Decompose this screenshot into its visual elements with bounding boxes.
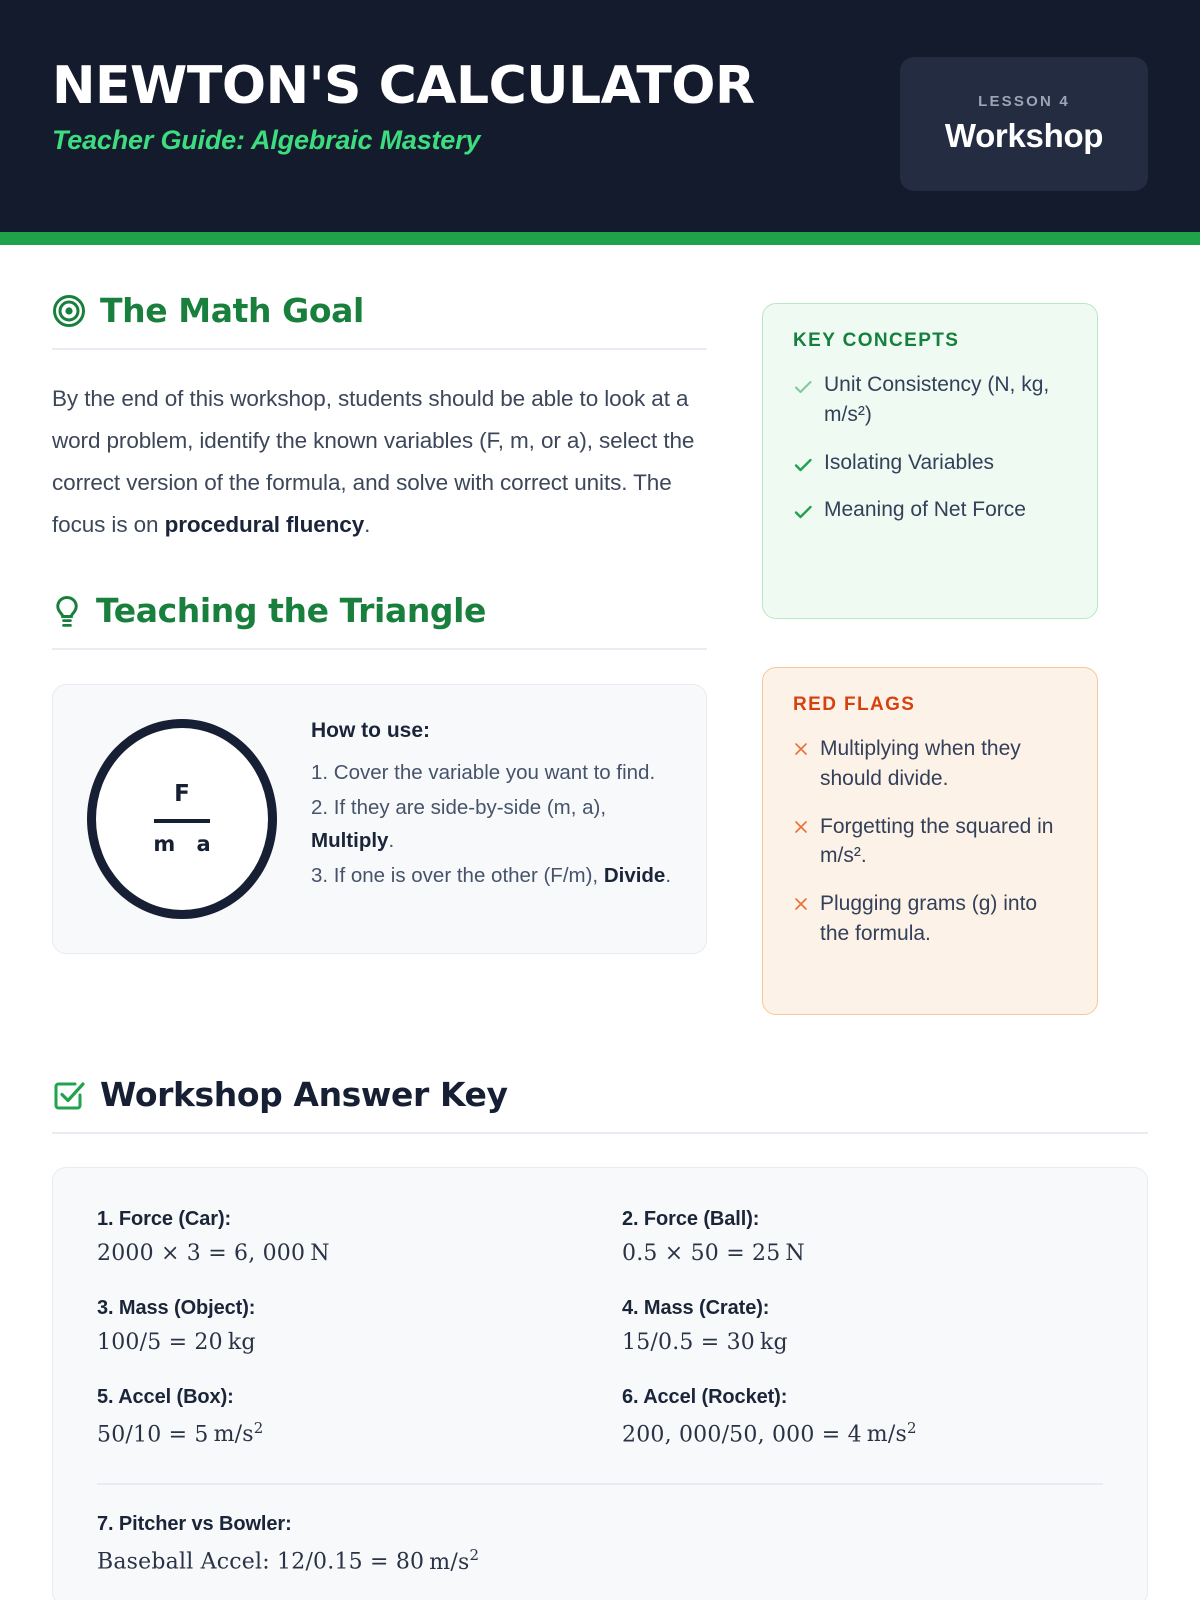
answer-expression: 0.5 × 50 = 25 [622, 1241, 780, 1266]
answer-unit: N [780, 1241, 804, 1266]
key-concept-label: Unit Consistency (N, kg, m/s²) [824, 370, 1071, 430]
math-goal-title: The Math Goal [100, 291, 364, 330]
answer-unit: N [305, 1241, 329, 1266]
answer-item: 1. Force (Car): 2000 × 3 = 6, 000N [97, 1208, 578, 1266]
teaching-triangle-title: Teaching the Triangle [96, 591, 486, 630]
answer-item: 4. Mass (Crate): 15/0.5 = 30kg [622, 1297, 1103, 1355]
main-content: The Math Goal By the end of this worksho… [0, 245, 1200, 1015]
answer-label: 3. Mass (Object): [97, 1297, 578, 1320]
key-concepts-list: Unit Consistency (N, kg, m/s²) Isolating… [793, 370, 1071, 525]
answer-unit: m/s [209, 1422, 254, 1447]
answer-exponent: 2 [254, 1419, 264, 1437]
answer-expression: 15/0.5 = 30 [622, 1330, 755, 1355]
red-flag-label: Multiplying when they should divide. [820, 734, 1071, 794]
list-item: Multiplying when they should divide. [793, 734, 1071, 794]
answer-label: 7. Pitcher vs Bowler: [97, 1513, 1103, 1536]
key-concepts-card: KEY CONCEPTS Unit Consistency (N, kg, m/… [762, 303, 1098, 619]
cross-icon [793, 812, 809, 835]
section-divider [52, 348, 707, 350]
lesson-type-label: Workshop [945, 117, 1103, 155]
answer-equation: 15/0.5 = 30kg [622, 1330, 1103, 1355]
goal-text-emphasis: procedural fluency [165, 512, 365, 537]
red-flags-card: RED FLAGS Multiplying when they should d… [762, 667, 1098, 1015]
answer-equation: 0.5 × 50 = 25N [622, 1241, 1103, 1266]
answer-expression: 200, 000/50, 000 = 4 [622, 1422, 862, 1447]
key-concept-label: Meaning of Net Force [824, 495, 1071, 525]
answer-label: 6. Accel (Rocket): [622, 1386, 1103, 1409]
howto-title: How to use: [311, 719, 676, 743]
math-goal-section: The Math Goal By the end of this worksho… [52, 291, 707, 545]
target-icon [52, 294, 86, 328]
lightbulb-icon [52, 594, 82, 628]
list-item: Forgetting the squared in m/s². [793, 812, 1071, 872]
answer-card-divider [97, 1483, 1103, 1485]
answer-expression: 100/5 = 20 [97, 1330, 223, 1355]
fraction-bar [154, 819, 210, 823]
answer-equation: 50/10 = 5m/s2 [97, 1419, 578, 1447]
answer-unit: m/s [862, 1422, 907, 1447]
list-item: Plugging grams (g) into the formula. [793, 889, 1071, 949]
howto-step-1-text: 1. Cover the variable you want to find. [311, 761, 655, 784]
howto-step-3-bold: Divide [604, 864, 666, 887]
answer-exponent: 2 [469, 1546, 479, 1564]
red-flags-title: RED FLAGS [793, 694, 1071, 716]
answer-label: 4. Mass (Crate): [622, 1297, 1103, 1320]
check-icon [793, 448, 813, 475]
answer-unit: kg [755, 1330, 788, 1355]
answer-item: 6. Accel (Rocket): 200, 000/50, 000 = 4m… [622, 1386, 1103, 1447]
teaching-triangle-section: Teaching the Triangle F m a How to use: … [52, 591, 707, 954]
answer-key-section: Workshop Answer Key 1. Force (Car): 2000… [0, 1015, 1200, 1600]
math-goal-heading: The Math Goal [52, 291, 707, 330]
answer-item-bottom: 7. Pitcher vs Bowler: Baseball Accel: 12… [97, 1513, 1103, 1574]
accent-bar [0, 232, 1200, 245]
answer-key-heading: Workshop Answer Key [52, 1075, 1148, 1114]
howto-step-3-text: 3. If one is over the other (F/m), [311, 864, 604, 887]
answer-equation: Baseball Accel: 12/0.15 = 80m/s2 [97, 1546, 1103, 1574]
key-concept-label: Isolating Variables [824, 448, 1071, 478]
answer-equation: 100/5 = 20kg [97, 1330, 578, 1355]
math-goal-body: By the end of this workshop, students sh… [52, 378, 707, 545]
goal-text-part1: By the end of this workshop, students sh… [52, 386, 694, 537]
howto-step-2-after: . [388, 829, 394, 852]
list-item: Unit Consistency (N, kg, m/s²) [793, 370, 1071, 430]
lesson-number-label: LESSON 4 [978, 93, 1070, 110]
main-column: The Math Goal By the end of this worksho… [52, 291, 762, 1015]
answer-expression: 2000 × 3 = 6, 000 [97, 1241, 305, 1266]
howto-step-2-text: 2. If they are side-by-side (m, a), [311, 796, 606, 819]
howto-step-2: 2. If they are side-by-side (m, a), Mult… [311, 792, 676, 858]
section-divider [52, 1132, 1148, 1134]
side-column: KEY CONCEPTS Unit Consistency (N, kg, m/… [762, 291, 1098, 1015]
howto-block: How to use: 1. Cover the variable you wa… [311, 719, 676, 892]
page-header: NEWTON'S CALCULATOR Teacher Guide: Algeb… [0, 0, 1200, 232]
answer-expression: Baseball Accel: 12/0.15 = 80 [97, 1550, 424, 1575]
formula-triangle-card: F m a How to use: 1. Cover the variable … [52, 684, 707, 954]
answer-unit: m/s [424, 1550, 469, 1575]
check-icon [793, 495, 813, 522]
fma-formula-circle: F m a [87, 719, 277, 919]
howto-step-1: 1. Cover the variable you want to find. [311, 757, 676, 790]
red-flag-label: Plugging grams (g) into the formula. [820, 889, 1071, 949]
section-divider [52, 648, 707, 650]
checkbox-checked-icon [52, 1078, 86, 1112]
list-item: Isolating Variables [793, 448, 1071, 478]
formula-numerator: F [174, 783, 190, 806]
howto-step-2-bold: Multiply [311, 829, 388, 852]
howto-step-3-after: . [665, 864, 671, 887]
answer-key-title: Workshop Answer Key [100, 1075, 508, 1114]
answer-label: 1. Force (Car): [97, 1208, 578, 1231]
check-icon [793, 370, 813, 397]
teacher-guide-page: NEWTON'S CALCULATOR Teacher Guide: Algeb… [0, 0, 1200, 1600]
answer-label: 2. Force (Ball): [622, 1208, 1103, 1231]
key-concepts-title: KEY CONCEPTS [793, 330, 1071, 352]
howto-step-3: 3. If one is over the other (F/m), Divid… [311, 860, 676, 893]
red-flag-label: Forgetting the squared in m/s². [820, 812, 1071, 872]
formula-denominator: m a [146, 834, 217, 855]
answer-key-card: 1. Force (Car): 2000 × 3 = 6, 000N 2. Fo… [52, 1167, 1148, 1600]
cross-icon [793, 734, 809, 757]
red-flags-list: Multiplying when they should divide. For… [793, 734, 1071, 949]
cross-icon [793, 889, 809, 912]
answer-item: 3. Mass (Object): 100/5 = 20kg [97, 1297, 578, 1355]
answer-equation: 2000 × 3 = 6, 000N [97, 1241, 578, 1266]
page-title: NEWTON'S CALCULATOR [52, 60, 755, 112]
answer-exponent: 2 [907, 1419, 917, 1437]
answer-label: 5. Accel (Box): [97, 1386, 578, 1409]
answer-expression: 50/10 = 5 [97, 1422, 209, 1447]
answer-unit: kg [223, 1330, 256, 1355]
header-title-group: NEWTON'S CALCULATOR Teacher Guide: Algeb… [52, 52, 755, 156]
teaching-triangle-heading: Teaching the Triangle [52, 591, 707, 630]
answer-item: 2. Force (Ball): 0.5 × 50 = 25N [622, 1208, 1103, 1266]
lesson-badge: LESSON 4 Workshop [900, 57, 1148, 191]
answer-equation: 200, 000/50, 000 = 4m/s2 [622, 1419, 1103, 1447]
page-subtitle: Teacher Guide: Algebraic Mastery [52, 125, 755, 156]
goal-text-part2: . [364, 512, 370, 537]
answer-item: 5. Accel (Box): 50/10 = 5m/s2 [97, 1386, 578, 1447]
answer-grid: 1. Force (Car): 2000 × 3 = 6, 000N 2. Fo… [97, 1208, 1103, 1447]
list-item: Meaning of Net Force [793, 495, 1071, 525]
